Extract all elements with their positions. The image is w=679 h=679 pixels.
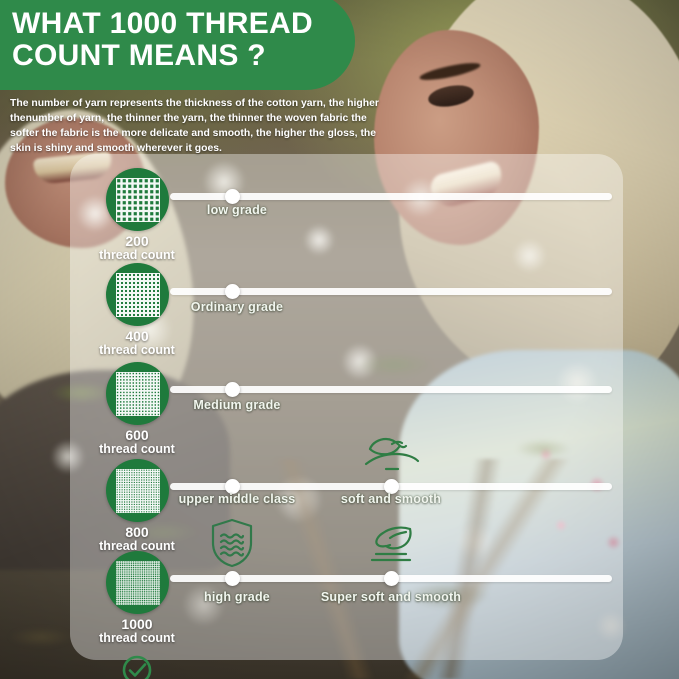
fabric-mesh-icon: [116, 561, 160, 605]
page-title: WHAT 1000 THREAD COUNT MEANS ?: [0, 0, 355, 90]
thread-count-number: 400: [125, 328, 148, 344]
thread-count-unit: thread count: [72, 443, 202, 457]
feather-on-fabric-icon: [362, 521, 420, 567]
hand-stroking-fabric-icon: [362, 429, 420, 475]
grade-label: Ordinary grade: [178, 300, 296, 314]
thread-count-number: 800: [125, 524, 148, 540]
fabric-mesh-icon: [116, 273, 160, 317]
thread-count-label: 1000thread count: [72, 617, 202, 646]
thread-count-unit: thread count: [72, 249, 202, 263]
thread-count-unit: thread count: [72, 632, 202, 646]
feature-label: soft and smooth: [306, 492, 476, 506]
thread-count-number: 1000: [121, 616, 152, 632]
intro-paragraph: The number of yarn represents the thickn…: [10, 96, 392, 156]
weave-density-badge: [106, 551, 169, 614]
grade-label: low grade: [178, 203, 296, 217]
thread-count-number: 600: [125, 427, 148, 443]
fabric-mesh-icon: [116, 178, 160, 222]
scale-marker-dot: [384, 571, 399, 586]
thread-count-label: 200thread count: [72, 234, 202, 263]
shield-waves-icon: [209, 517, 255, 569]
scale-marker-dot: [225, 189, 240, 204]
scale-marker-dot: [225, 571, 240, 586]
grade-label: Medium grade: [178, 398, 296, 412]
infographic-canvas: WHAT 1000 THREAD COUNT MEANS ? The numbe…: [0, 0, 679, 679]
check-circle-icon: [120, 653, 154, 679]
weave-density-badge: [106, 263, 169, 326]
scale-marker-dot: [225, 284, 240, 299]
weave-density-badge: [106, 362, 169, 425]
weave-density-badge: [106, 168, 169, 231]
page-title-line-1: WHAT 1000 THREAD: [12, 7, 313, 40]
grade-label: high grade: [178, 590, 296, 604]
page-title-line-2: COUNT MEANS ?: [12, 40, 313, 72]
thread-count-unit: thread count: [72, 344, 202, 358]
thread-count-label: 600thread count: [72, 428, 202, 457]
thread-count-label: 800thread count: [72, 525, 202, 554]
weave-density-badge: [106, 459, 169, 522]
thread-count-label: 400thread count: [72, 329, 202, 358]
scale-marker-dot: [225, 382, 240, 397]
grade-label: upper middle class: [178, 492, 296, 506]
fabric-mesh-icon: [116, 469, 160, 513]
thread-count-number: 200: [125, 233, 148, 249]
fabric-mesh-icon: [116, 372, 160, 416]
feature-label: Super soft and smooth: [306, 590, 476, 604]
